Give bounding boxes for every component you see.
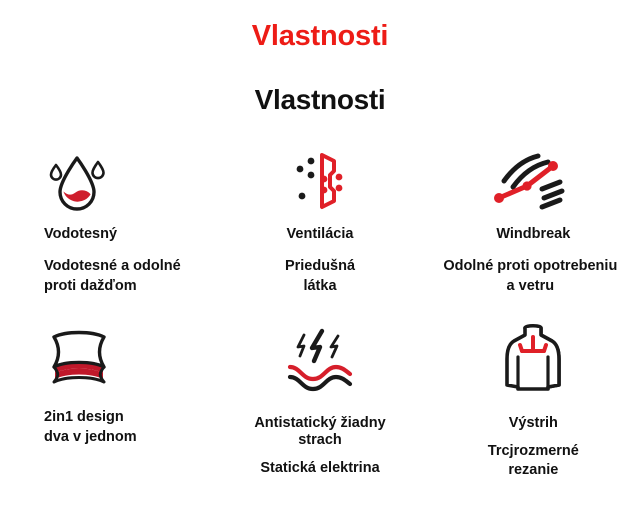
- feature-title: Vodotesný: [44, 226, 117, 243]
- ventilation-icon: [289, 140, 351, 222]
- feature-description-line: Trcjrozmerné: [488, 442, 579, 462]
- page-title-red: Vlastnosti: [0, 22, 640, 51]
- feature-row-1: Vodotesný Vodotesné a odolné proti dažďo…: [0, 140, 640, 297]
- feature-description-line: proti dažďom: [44, 277, 181, 297]
- feature-description: Vodotesné a odolné proti dažďom: [44, 257, 181, 296]
- feature-title: Windbreak: [496, 226, 570, 243]
- feature-sheet: Vlastnosti Vlastnosti Vodotesný Vodotesn…: [0, 0, 640, 515]
- feature-card-windbreak: Windbreak Odolné proti opotrebeniu a vet…: [427, 140, 640, 297]
- feature-description-line: dva v jednom: [44, 428, 137, 448]
- feature-description: Odolné proti opotrebeniu a vetru: [443, 257, 617, 296]
- feature-card-waterproof: Vodotesný Vodotesné a odolné proti dažďo…: [0, 140, 213, 297]
- feature-card-antistatic: Antistatický žiadny strach Statická elek…: [213, 319, 426, 482]
- jacket-neckline-icon: [502, 319, 564, 401]
- feature-row-2: 2in1 design dva v jednom A: [0, 319, 640, 482]
- feature-description-line: Priedušná: [285, 257, 355, 277]
- feature-card-neckline: Výstrih Trcjrozmerné rezanie: [427, 319, 640, 482]
- feature-description-line: Odolné proti opotrebeniu: [443, 257, 617, 277]
- feature-title: Výstrih: [509, 415, 558, 432]
- feature-description-line: rezanie: [488, 461, 579, 481]
- feature-card-ventilation: Ventilácia Priedušná látka: [213, 140, 426, 297]
- feature-description-line: a vetru: [443, 277, 617, 297]
- feature-title: Ventilácia: [287, 226, 354, 243]
- water-drop-icon: [44, 140, 110, 222]
- fabric-layers-icon: [44, 319, 114, 395]
- feature-title: 2in1 design: [44, 409, 124, 426]
- feature-description-line: Statická elektrina: [260, 459, 379, 479]
- page-title-black: Vlastnosti: [0, 86, 640, 114]
- feature-description: dva v jednom: [44, 428, 137, 448]
- feature-description: Trcjrozmerné rezanie: [488, 442, 579, 481]
- feature-description-line: Vodotesné a odolné: [44, 257, 181, 277]
- windbreak-icon: [490, 140, 576, 222]
- feature-grid: Vodotesný Vodotesné a odolné proti dažďo…: [0, 140, 640, 481]
- feature-description: Priedušná látka: [285, 257, 355, 296]
- feature-description: Statická elektrina: [260, 459, 379, 479]
- feature-description-line: látka: [285, 277, 355, 297]
- feature-title: Antistatický žiadny strach: [254, 415, 385, 450]
- feature-title-line: Antistatický žiadny: [254, 415, 385, 432]
- feature-title-line: strach: [254, 432, 385, 449]
- antistatic-icon: [284, 319, 356, 401]
- feature-card-2in1: 2in1 design dva v jednom: [0, 319, 213, 482]
